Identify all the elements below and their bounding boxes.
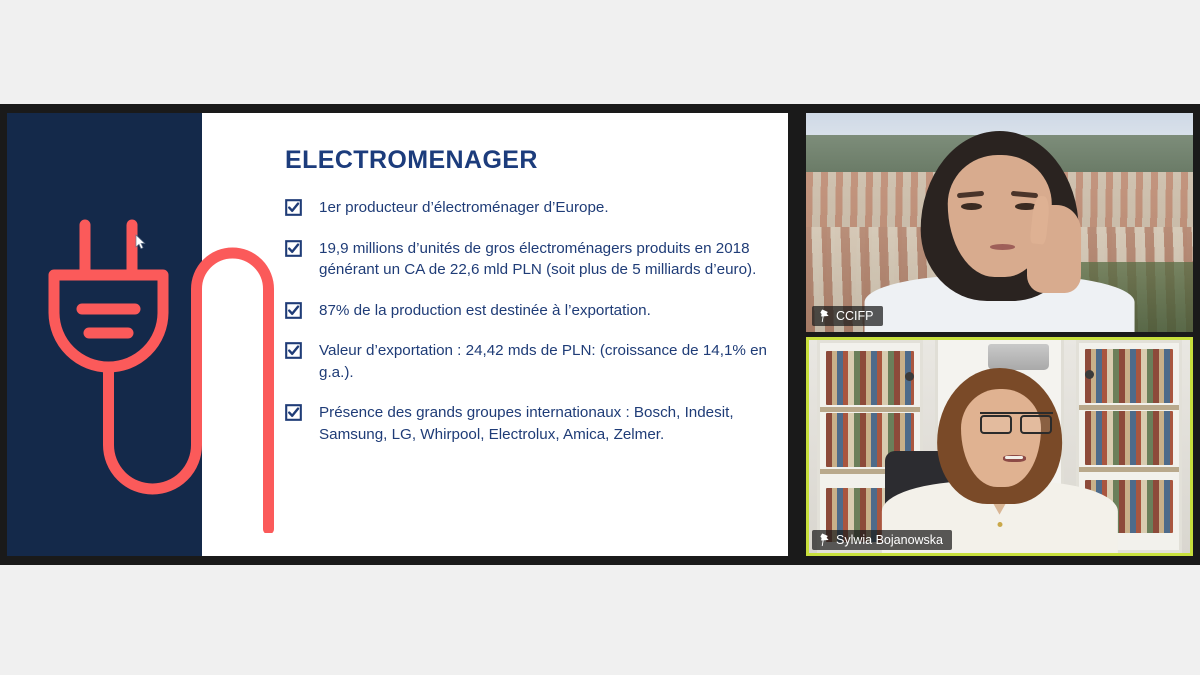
participant-tile-sylwia-bojanowska[interactable]: Sylwia Bojanowska bbox=[806, 337, 1193, 556]
bullet-text: Valeur d’exportation : 24,42 mds de PLN:… bbox=[319, 340, 777, 383]
slide-bullet-list: 1er producteur d’électroménager d’Europe… bbox=[285, 197, 777, 446]
mouse-cursor bbox=[135, 234, 146, 250]
bullet-text: 19,9 millions d’unités de gros électromé… bbox=[319, 238, 777, 281]
slide-sidebar-panel bbox=[7, 113, 202, 556]
participant-tile-ccifp[interactable]: CCIFP bbox=[806, 113, 1193, 332]
bullet-text: 1er producteur d’électroménager d’Europe… bbox=[319, 197, 609, 219]
checked-checkbox-icon bbox=[285, 302, 302, 319]
participant-name-tag: Sylwia Bojanowska bbox=[812, 530, 952, 550]
shared-screen-slide[interactable]: ELECTROMENAGER 1er producteur d’électrom… bbox=[7, 113, 788, 556]
participant-video-feed bbox=[806, 113, 1193, 332]
checked-checkbox-icon bbox=[285, 342, 302, 359]
pin-icon bbox=[818, 309, 830, 323]
participant-name-tag: CCIFP bbox=[812, 306, 883, 326]
meeting-window: ELECTROMENAGER 1er producteur d’électrom… bbox=[0, 0, 1200, 675]
checked-checkbox-icon bbox=[285, 240, 302, 257]
list-item: 19,9 millions d’unités de gros électromé… bbox=[285, 238, 777, 281]
checked-checkbox-icon bbox=[285, 199, 302, 216]
participant-video-feed bbox=[809, 340, 1190, 553]
checked-checkbox-icon bbox=[285, 404, 302, 421]
list-item: Valeur d’exportation : 24,42 mds de PLN:… bbox=[285, 340, 777, 383]
bullet-text: Présence des grands groupes internationa… bbox=[319, 402, 777, 445]
participant-name: Sylwia Bojanowska bbox=[836, 533, 943, 547]
pin-icon bbox=[818, 533, 830, 547]
bullet-text: 87% de la production est destinée à l’ex… bbox=[319, 300, 651, 322]
list-item: 87% de la production est destinée à l’ex… bbox=[285, 300, 777, 322]
list-item: Présence des grands groupes internationa… bbox=[285, 402, 777, 445]
slide-title: ELECTROMENAGER bbox=[285, 146, 777, 175]
slide-content: ELECTROMENAGER 1er producteur d’électrom… bbox=[285, 146, 777, 465]
participant-name: CCIFP bbox=[836, 309, 874, 323]
list-item: 1er producteur d’électroménager d’Europe… bbox=[285, 197, 777, 219]
